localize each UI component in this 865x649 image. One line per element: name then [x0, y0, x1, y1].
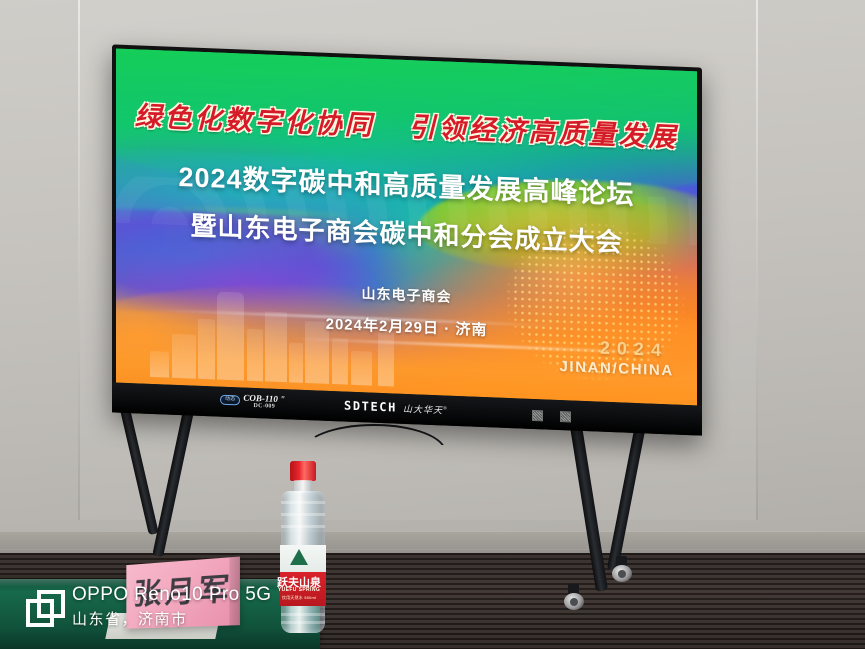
- oppo-logo-icon: [26, 590, 60, 624]
- stand-caster: [564, 584, 584, 610]
- bottle-cap: [290, 461, 316, 481]
- bezel-left-brand: 动态 COB-110 " DC-009: [220, 392, 285, 411]
- stand-caster: [612, 556, 632, 582]
- wall-seam: [756, 0, 758, 520]
- cert-mark-1-icon: [532, 410, 543, 421]
- display-screen-body: 绿色化数字化协同 引领经济高质量发展 2024数字碳中和高质量发展高峰论坛 暨山…: [112, 44, 702, 435]
- sdtech-wordmark: SDTECH: [344, 399, 397, 415]
- display-screen: 绿色化数字化协同 引领经济高质量发展 2024数字碳中和高质量发展高峰论坛 暨山…: [116, 49, 697, 406]
- bezel-center-brand: SDTECH 山大华天®: [344, 399, 448, 417]
- water-bottle: 跃夫山泉 YUEFU SPRING 饮用天然水 550ml: [276, 461, 330, 633]
- bezel-model-label: COB-110 " DC-009: [243, 393, 285, 411]
- display-cable: [302, 424, 446, 452]
- sdtech-wordmark-cn: 山大华天®: [403, 401, 448, 416]
- camera-watermark: OPPO Reno10 Pro 5G 山东省，济南市: [26, 584, 271, 629]
- bottle-volume: 饮用天然水 550ml: [276, 595, 322, 601]
- bezel-brand-badge: 动态: [220, 395, 240, 406]
- cert-mark-2-icon: [560, 411, 571, 422]
- slide-year-badge: 2024: [600, 337, 668, 361]
- photo-scene: 绿色化数字化协同 引领经济高质量发展 2024数字碳中和高质量发展高峰论坛 暨山…: [0, 0, 865, 649]
- bottle-brand-en: YUEFU SPRING: [276, 587, 322, 593]
- watermark-device: OPPO Reno10 Pro 5G: [72, 584, 271, 606]
- bottle-mountain-icon: [290, 549, 308, 565]
- led-display-unit: 绿色化数字化协同 引领经济高质量发展 2024数字碳中和高质量发展高峰论坛 暨山…: [112, 56, 708, 456]
- watermark-location: 山东省，济南市: [72, 608, 271, 629]
